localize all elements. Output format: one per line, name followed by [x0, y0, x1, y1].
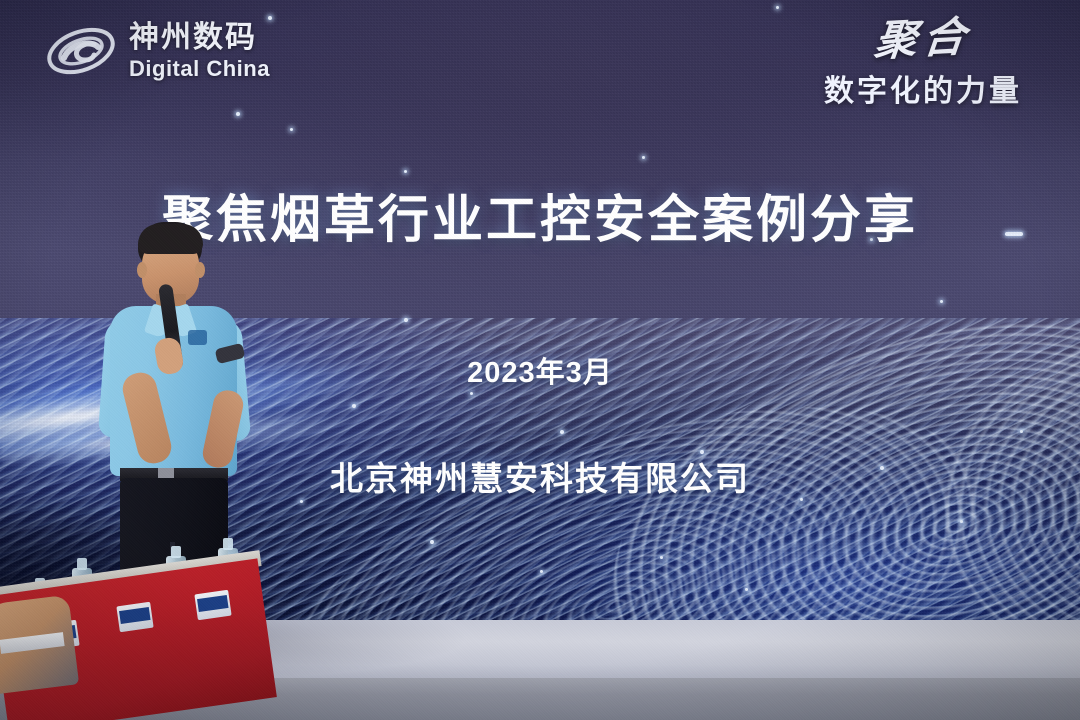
name-card [194, 590, 231, 620]
theme-subtitle: 数字化的力量 [788, 66, 1058, 110]
presentation-stage-photo: 神州数码 Digital China 聚合 数字化的力量 聚焦烟草行业工控安全案… [0, 0, 1080, 720]
name-card [116, 602, 153, 632]
digital-china-swirl-icon [44, 22, 118, 80]
speaker-ear-right [195, 262, 205, 278]
theme-brush-text: 聚合 [785, 11, 1061, 67]
brand-name-en: Digital China [129, 58, 270, 80]
speaker-hair-top [138, 224, 203, 254]
brand-name-cn: 神州数码 [129, 23, 270, 53]
speaker-shirt-logo [188, 330, 207, 345]
digital-china-brand-logo: 神州数码 Digital China [44, 22, 270, 80]
event-theme-logo: 聚合 数字化的力量 [788, 18, 1058, 110]
digital-china-wordmark: 神州数码 Digital China [129, 23, 270, 80]
speaker-ear-left [137, 262, 147, 278]
